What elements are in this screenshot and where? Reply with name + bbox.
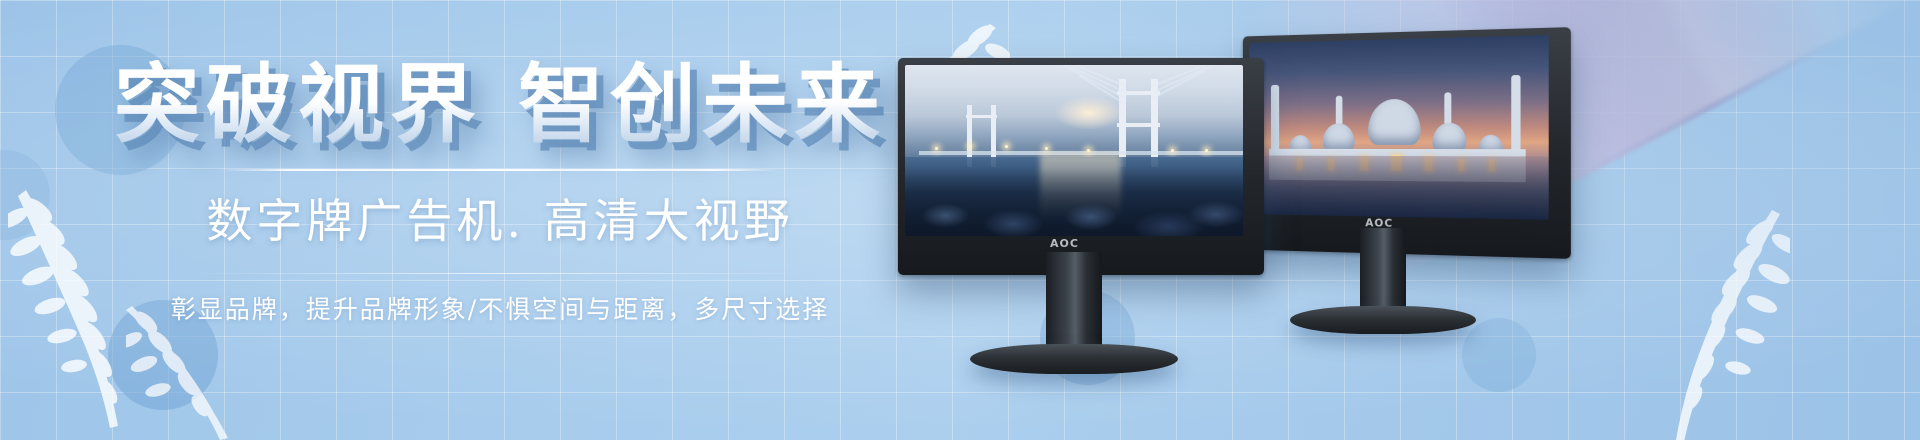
product-monitor-bridge: AOC [898, 58, 1264, 275]
headline-divider [220, 169, 780, 171]
product-monitor-mosque: AOC [1232, 32, 1568, 254]
rocky-shoreline [905, 168, 1243, 236]
bridge-crossbeam-mid [1117, 123, 1160, 127]
decor-circle-4 [1462, 318, 1536, 392]
banner-tagline: 彰显品牌，提升品牌形象/不惧空间与距离，多尺寸选择 [0, 290, 1000, 326]
monitor-screen-mosque [1249, 35, 1549, 220]
sun-glow [1054, 96, 1124, 130]
bridge-lamp-4 [1045, 147, 1048, 150]
bridge-lamp-2 [969, 145, 972, 148]
monitor-bezel: AOC [1243, 27, 1571, 259]
bridge-crossbeam-left [966, 115, 997, 118]
banner-headline: 突破视界 智创未来 [0, 60, 1000, 151]
monitor-stand-base [970, 344, 1178, 374]
banner-subtitle: 数字牌广告机. 高清大视野 [0, 185, 1000, 251]
monitor-stand-neck [1360, 228, 1406, 310]
monitor-stand-neck [1046, 252, 1102, 348]
mosque-reflection [1249, 156, 1549, 220]
promo-banner: 突破视界 智创未来 数字牌广告机. 高清大视野 彰显品牌，提升品牌形象/不惧空间… [0, 0, 1920, 440]
leaf-bottom-right-icon [1590, 200, 1790, 440]
brand-logo-bridge: AOC [1050, 237, 1079, 250]
subtitle-divider [190, 273, 810, 274]
bridge-lamp-5 [1087, 149, 1090, 152]
bridge-lamp-3 [1005, 145, 1008, 148]
monitor-bezel: AOC [898, 58, 1264, 275]
bridge-lamp-6 [1171, 149, 1174, 152]
banner-text-block: 突破视界 智创未来 数字牌广告机. 高清大视野 彰显品牌，提升品牌形象/不惧空间… [0, 60, 1000, 326]
bridge-lamp-1 [935, 147, 938, 150]
monitor-screen-bridge [905, 65, 1243, 236]
monitor-stand-base [1290, 306, 1476, 334]
bridge-lamp-7 [1205, 149, 1208, 152]
